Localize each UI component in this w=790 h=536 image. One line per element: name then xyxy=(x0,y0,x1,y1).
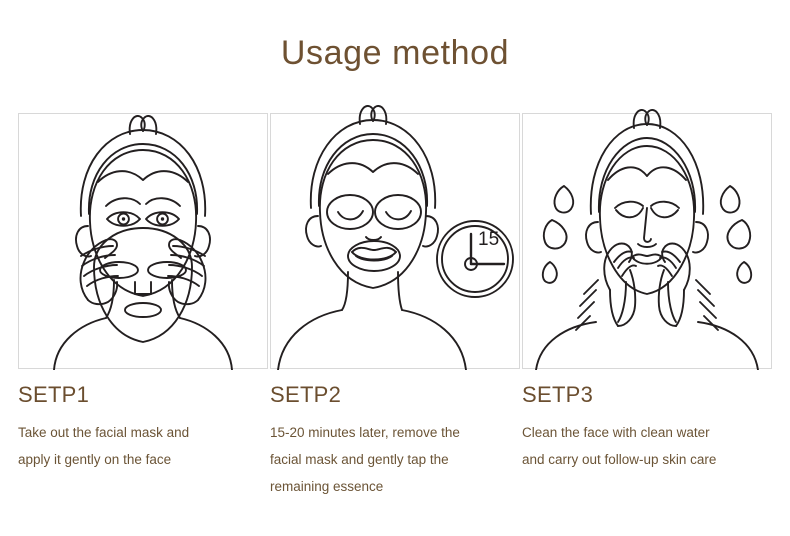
step-label-2: SETP2 xyxy=(270,383,520,407)
step-card-2: 15 SETP2 15-20 minutes later, remove the… xyxy=(270,113,520,500)
illustration-applying-mask-icon xyxy=(18,104,268,370)
step-description-line: facial mask and gently tap the xyxy=(270,446,514,473)
step-description-2: 15-20 minutes later, remove the facial m… xyxy=(270,419,514,500)
step-illustration-panel-3 xyxy=(522,113,772,369)
step-illustration-panel-1 xyxy=(18,113,268,369)
illustration-mask-on-with-timer-icon: 15 xyxy=(270,104,520,370)
step-description-line: Clean the face with clean water xyxy=(522,419,766,446)
step-description-1: Take out the facial mask and apply it ge… xyxy=(18,419,262,473)
step-description-line: remaining essence xyxy=(270,473,514,500)
step-illustration-panel-2: 15 xyxy=(270,113,520,369)
step-label-3: SETP3 xyxy=(522,383,772,407)
page-title: Usage method xyxy=(0,34,790,73)
step-card-3: SETP3 Clean the face with clean water an… xyxy=(522,113,772,500)
step-description-line: 15-20 minutes later, remove the xyxy=(270,419,514,446)
step-description-line: apply it gently on the face xyxy=(18,446,262,473)
step-description-line: Take out the facial mask and xyxy=(18,419,262,446)
clock-value-label: 15 xyxy=(478,229,499,250)
step-card-1: SETP1 Take out the facial mask and apply… xyxy=(18,113,268,500)
steps-container: SETP1 Take out the facial mask and apply… xyxy=(18,113,772,500)
step-description-3: Clean the face with clean water and carr… xyxy=(522,419,766,473)
step-label-1: SETP1 xyxy=(18,383,268,407)
step-description-line: and carry out follow-up skin care xyxy=(522,446,766,473)
illustration-washing-face-icon xyxy=(522,104,772,370)
